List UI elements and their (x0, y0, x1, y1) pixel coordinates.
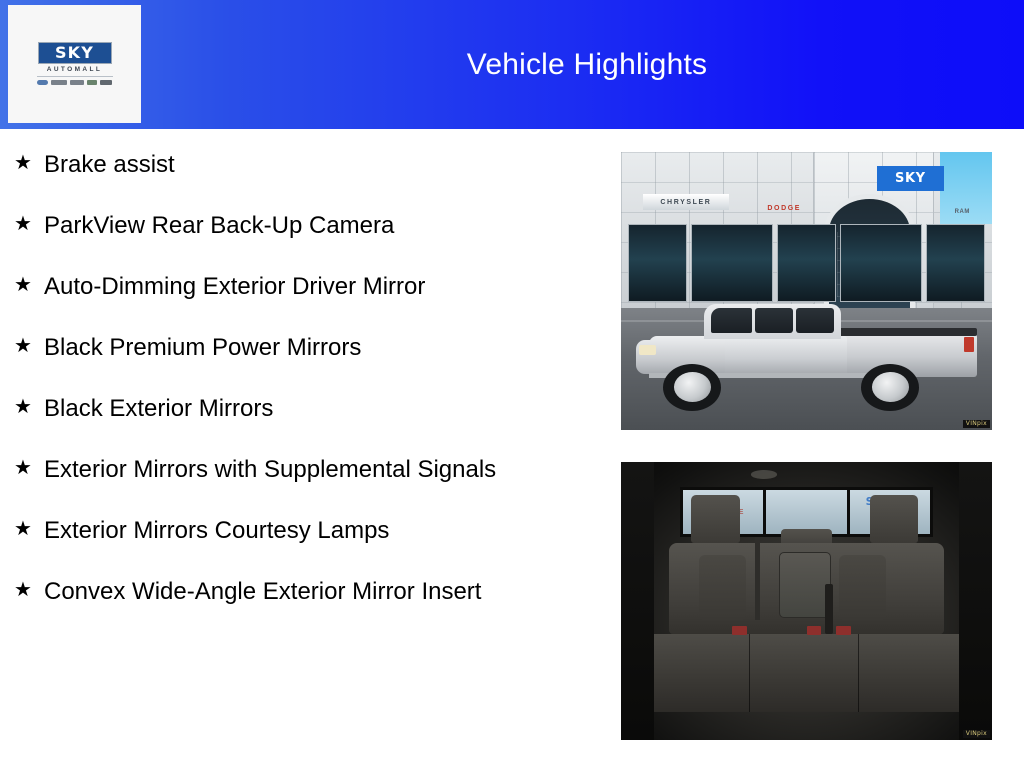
feature-item: ★ ParkView Rear Back-Up Camera (0, 208, 600, 243)
feature-label: Auto-Dimming Exterior Driver Mirror (44, 269, 514, 304)
dealer-logo-card[interactable]: SKY AUTOMALL (8, 5, 141, 123)
sky-logo-text: SKY (55, 45, 94, 61)
feature-item: ★ Convex Wide-Angle Exterior Mirror Inse… (0, 574, 600, 609)
seat-seam (858, 634, 859, 712)
seatbelt-buckle (807, 626, 822, 635)
seat-seam (749, 634, 750, 712)
star-bullet-icon: ★ (14, 513, 44, 543)
truck-taillight (964, 337, 974, 351)
showroom-window (691, 224, 773, 302)
seat-bolster-left (699, 555, 746, 619)
showroom-glass-row (628, 224, 984, 302)
truck-rear-wheel (861, 364, 919, 411)
feature-label: Exterior Mirrors Courtesy Lamps (44, 513, 514, 548)
feature-item: ★ Brake assist (0, 147, 600, 182)
truck-window (711, 308, 752, 332)
vehicle-exterior-photo[interactable]: CHRYSLER DODGE SKY Jeep RAM (621, 152, 992, 430)
feature-item: ★ Auto-Dimming Exterior Driver Mirror (0, 269, 600, 304)
truck-bed-rail (820, 328, 977, 336)
dodge-sign: DODGE (751, 202, 818, 216)
page-header: Vehicle Highlights (0, 0, 1024, 129)
dealer-logo: SKY AUTOMALL (29, 42, 121, 86)
feature-label: Black Exterior Mirrors (44, 391, 514, 426)
rear-seat-cushion (647, 634, 966, 712)
truck-front-wheel (663, 364, 721, 411)
showroom-window (926, 224, 985, 302)
logo-divider (37, 76, 113, 77)
seatbelt-center (825, 584, 833, 634)
feature-item: ★ Exterior Mirrors with Supplemental Sig… (0, 452, 600, 487)
brand-chip-dodge-icon (51, 80, 67, 85)
feature-label: Brake assist (44, 147, 514, 182)
automall-subtitle: AUTOMALL (47, 67, 103, 74)
star-bullet-icon: ★ (14, 208, 44, 238)
feature-label: Exterior Mirrors with Supplemental Signa… (44, 452, 514, 487)
brand-chip-fiat-icon (100, 80, 112, 85)
rear-window-pane (766, 490, 849, 534)
dome-light-icon (751, 470, 777, 478)
chrysler-sign: CHRYSLER (643, 194, 728, 211)
vehicle-interior-photo[interactable]: VINpix (621, 462, 992, 740)
star-bullet-icon: ★ (14, 269, 44, 299)
ram-sign: RAM (940, 205, 985, 219)
sky-logo-box: SKY (38, 42, 112, 64)
seat-bolster-right (839, 555, 886, 619)
center-armrest (779, 552, 831, 618)
truck-windows (711, 308, 834, 332)
brand-chip-ram-icon (70, 80, 84, 85)
showroom-window (628, 224, 687, 302)
brand-logos-strip (37, 79, 112, 86)
vehicle-features-list: ★ Brake assist ★ ParkView Rear Back-Up C… (0, 129, 600, 768)
feature-item: ★ Black Exterior Mirrors (0, 391, 600, 426)
star-bullet-icon: ★ (14, 391, 44, 421)
feature-label: Black Premium Power Mirrors (44, 330, 514, 365)
showroom-window (840, 224, 922, 302)
feature-item: ★ Exterior Mirrors Courtesy Lamps (0, 513, 600, 548)
door-panel-left (621, 462, 654, 740)
feature-item: ★ Black Premium Power Mirrors (0, 330, 600, 365)
door-panel-right (959, 462, 992, 740)
slide-page: Vehicle Highlights SKY AUTOMALL ★ Brake … (0, 0, 1024, 768)
rear-headrest-right (870, 495, 918, 542)
star-bullet-icon: ★ (14, 330, 44, 360)
brand-chip-chrysler-icon (37, 80, 48, 85)
seatbelt-buckle (836, 626, 851, 635)
seatbelt-left (755, 537, 761, 620)
truck-window (755, 308, 793, 332)
feature-label: Convex Wide-Angle Exterior Mirror Insert (44, 574, 514, 609)
photo-watermark: VINpix (963, 730, 990, 738)
seatbelt-buckle (732, 626, 747, 635)
photo-watermark: VINpix (963, 420, 990, 428)
star-bullet-icon: ★ (14, 452, 44, 482)
star-bullet-icon: ★ (14, 147, 44, 177)
rear-seat-back (669, 543, 944, 635)
star-bullet-icon: ★ (14, 574, 44, 604)
showroom-window (777, 224, 836, 302)
pickup-truck (636, 299, 977, 410)
sky-dealership-sign: SKY (877, 166, 944, 191)
truck-window (796, 308, 834, 332)
rear-headrest-left (691, 495, 739, 542)
page-title: Vehicle Highlights (150, 0, 1024, 129)
brand-chip-jeep-icon (87, 80, 97, 85)
truck-headlight (639, 345, 656, 355)
feature-label: ParkView Rear Back-Up Camera (44, 208, 514, 243)
vehicle-media-column: CHRYSLER DODGE SKY Jeep RAM (621, 152, 992, 740)
